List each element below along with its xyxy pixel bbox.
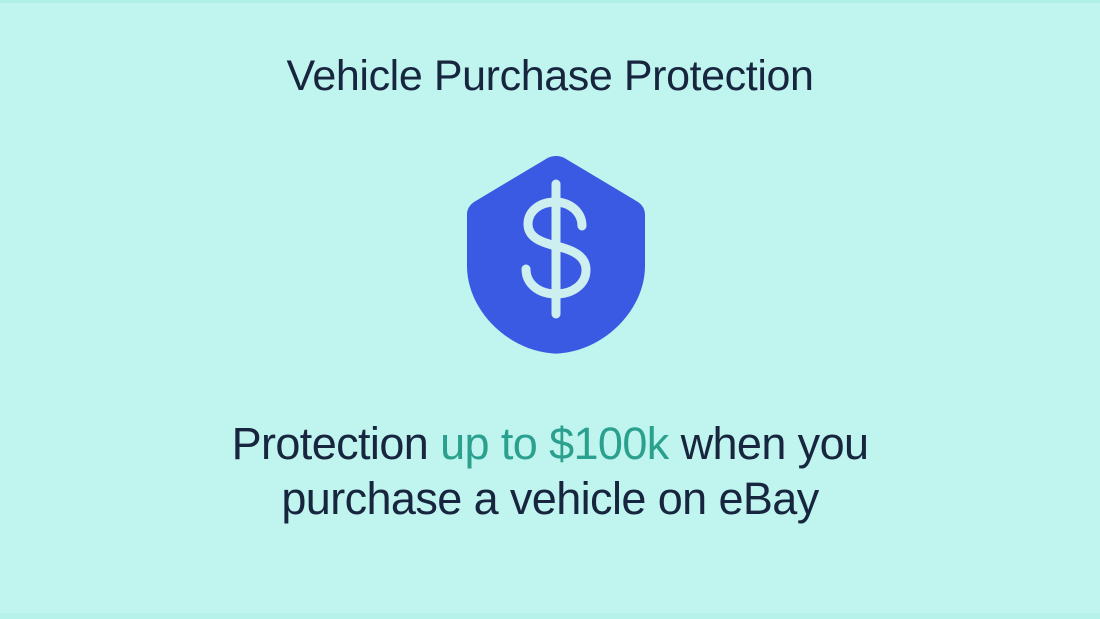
headline-amount-accent: up to $100k — [440, 418, 669, 469]
headline-prefix: Protection — [232, 418, 441, 469]
bottom-edge-band — [0, 613, 1100, 619]
top-edge-band — [0, 0, 1100, 3]
headline-line-2: purchase a vehicle on eBay — [0, 471, 1100, 526]
headline-line-1: Protection up to $100k when you — [0, 416, 1100, 471]
headline-suffix: when you — [669, 418, 869, 469]
headline: Protection up to $100k when you purchase… — [0, 416, 1100, 526]
page-title: Vehicle Purchase Protection — [0, 52, 1100, 100]
shield-dollar-icon — [466, 154, 646, 354]
vehicle-purchase-protection-slide: Vehicle Purchase Protection Protection u… — [0, 0, 1100, 619]
